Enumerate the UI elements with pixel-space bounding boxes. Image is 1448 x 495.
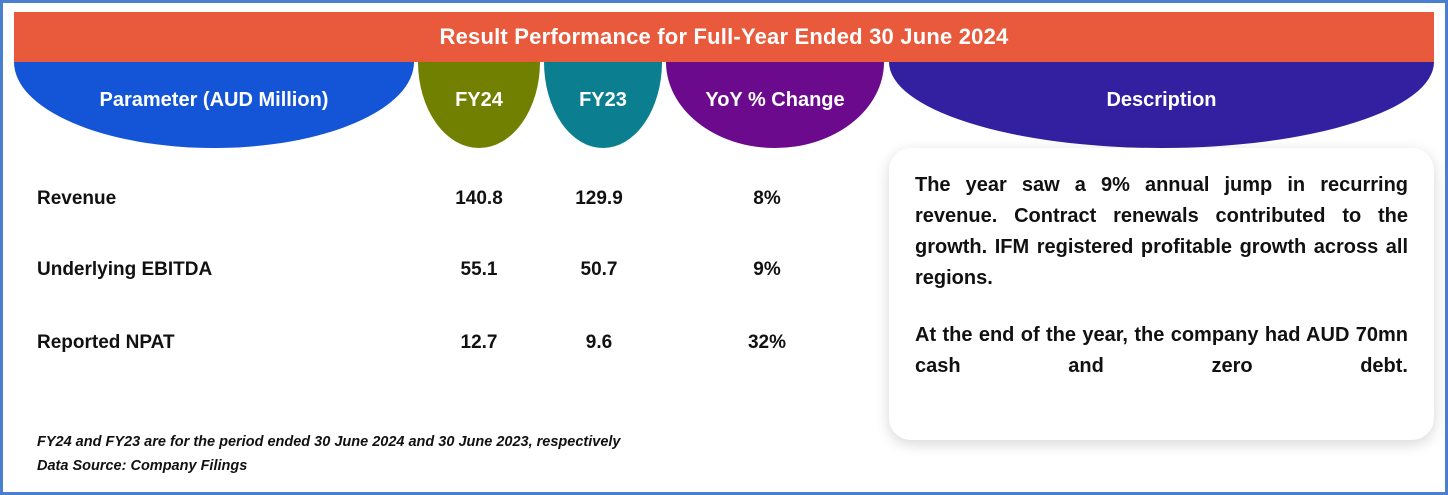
column-header-fy23: FY23 (544, 62, 662, 148)
description-card: The year saw a 9% annual jump in recurri… (889, 148, 1434, 440)
column-header-description: Description (889, 62, 1434, 148)
cell-yoy: 9% (658, 259, 876, 281)
cell-yoy: 8% (658, 188, 876, 210)
column-header-fy24: FY24 (418, 62, 540, 148)
column-header-yoy-change: YoY % Change (666, 62, 884, 148)
footnote-period: FY24 and FY23 are for the period ended 3… (37, 430, 857, 454)
cell-parameter: Underlying EBITDA (14, 259, 418, 281)
table-header-row: Parameter (AUD Million) FY24 FY23 YoY % … (14, 62, 1434, 148)
cell-fy23: 50.7 (540, 259, 658, 281)
cell-fy24: 55.1 (418, 259, 540, 281)
cell-parameter: Reported NPAT (14, 332, 418, 354)
cell-fy23: 129.9 (540, 188, 658, 210)
result-performance-table-card: Result Performance for Full-Year Ended 3… (0, 0, 1448, 495)
cell-fy24: 140.8 (418, 188, 540, 210)
cell-yoy: 32% (658, 332, 876, 354)
description-paragraph-1: The year saw a 9% annual jump in recurri… (915, 170, 1408, 294)
column-header-parameter: Parameter (AUD Million) (14, 62, 414, 148)
description-paragraph-2: At the end of the year, the company had … (915, 320, 1408, 413)
cell-fy24: 12.7 (418, 332, 540, 354)
card-inner: Result Performance for Full-Year Ended 3… (14, 12, 1434, 482)
table-row: Underlying EBITDA 55.1 50.7 9% (14, 255, 884, 285)
table-row: Reported NPAT 12.7 9.6 32% (14, 328, 884, 358)
table-body: Revenue 140.8 129.9 8% Underlying EBITDA… (14, 148, 884, 428)
table-row: Revenue 140.8 129.9 8% (14, 184, 884, 214)
cell-fy23: 9.6 (540, 332, 658, 354)
footnote-data-source: Data Source: Company Filings (37, 454, 857, 478)
cell-parameter: Revenue (14, 188, 418, 210)
page-title: Result Performance for Full-Year Ended 3… (14, 12, 1434, 62)
footnotes: FY24 and FY23 are for the period ended 3… (37, 430, 857, 478)
